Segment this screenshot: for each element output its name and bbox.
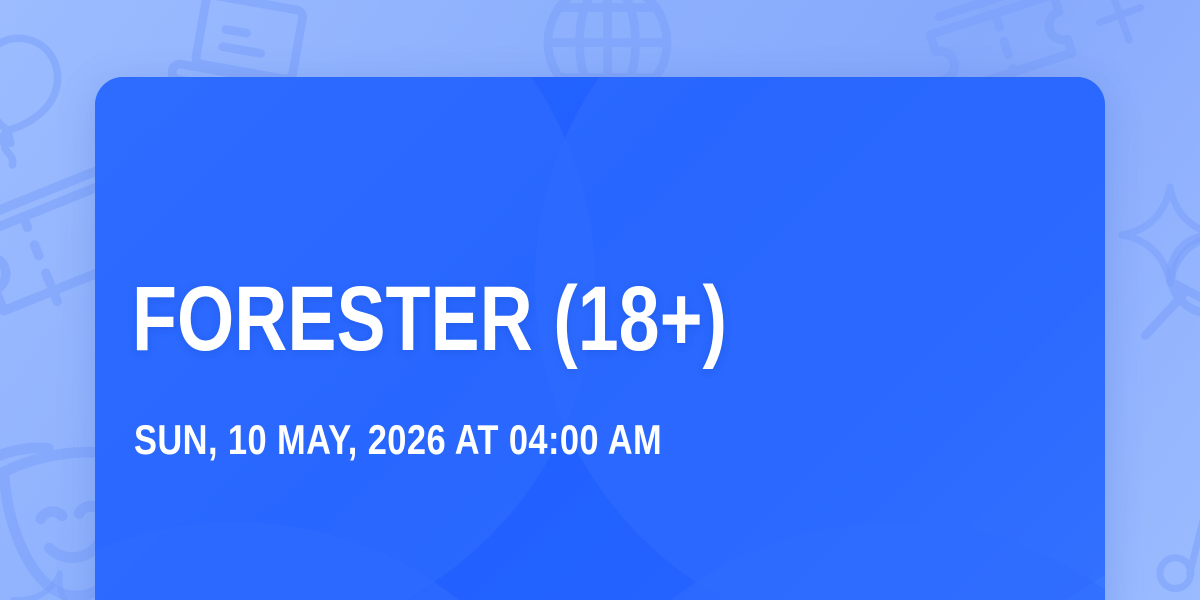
event-banner: FORESTER (18+) SUN, 10 MAY, 2026 AT 04:0… bbox=[0, 0, 1200, 600]
music-note-icon bbox=[1125, 465, 1200, 600]
event-date: SUN, 10 MAY, 2026 AT 04:00 AM bbox=[134, 419, 662, 461]
balloon-icon bbox=[0, 6, 104, 184]
sparkle-icon bbox=[1110, 175, 1200, 295]
event-title: FORESTER (18+) bbox=[132, 273, 727, 365]
event-card[interactable]: FORESTER (18+) SUN, 10 MAY, 2026 AT 04:0… bbox=[95, 77, 1105, 600]
event-card-content: FORESTER (18+) SUN, 10 MAY, 2026 AT 04:0… bbox=[132, 77, 1065, 600]
sparkle-small-icon bbox=[1062, 0, 1177, 73]
